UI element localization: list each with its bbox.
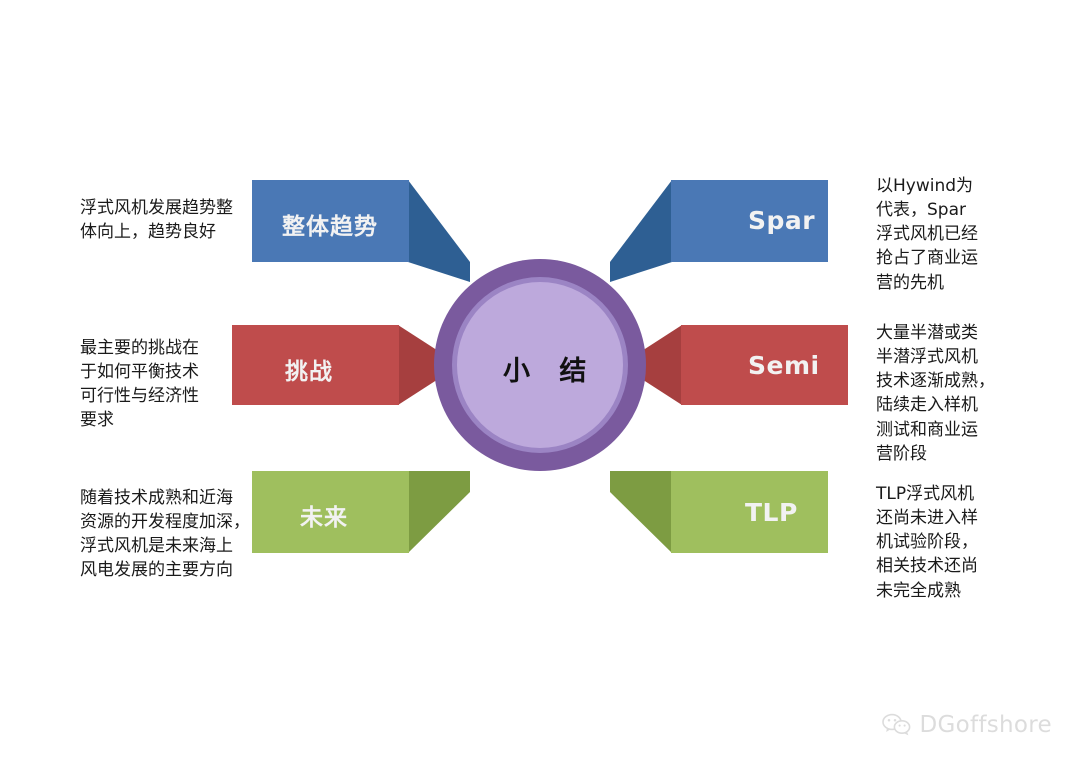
- branch-wedge-future: [408, 471, 470, 553]
- branch-description-spar: 以Hywind为 代表，Spar 浮式风机已经 抢占了商业运 营的先机: [876, 174, 1004, 295]
- branch-block-future: [252, 471, 409, 553]
- branch-wedge-spar: [610, 180, 672, 282]
- branch-description-overall-trend: 浮式风机发展趋势整 体向上，趋势良好: [80, 196, 260, 244]
- branch-description-semi: 大量半潜或类 半潜浮式风机 技术逐渐成熟， 陆续走入样机 测试和商业运 营阶段: [876, 321, 1006, 466]
- diagram-canvas: 整体趋势 Spar 挑战 Semi 未来 TLP 小 结 浮式风机发展趋势整 体…: [0, 0, 1080, 764]
- watermark-text: DGoffshore: [919, 712, 1052, 738]
- branch-shape-challenge[interactable]: [232, 325, 460, 405]
- branch-wedge-overall-trend: [408, 180, 470, 282]
- center-label: 小 结: [503, 349, 596, 388]
- branch-shape-semi[interactable]: [620, 325, 848, 405]
- branch-description-future: 随着技术成熟和近海 资源的开发程度加深， 浮式风机是未来海上 风电发展的主要方向: [80, 486, 275, 583]
- watermark: DGoffshore: [882, 712, 1052, 738]
- branch-block-tlp: [671, 471, 828, 553]
- branch-description-tlp: TLP浮式风机 还尚未进入样 机试验阶段， 相关技术还尚 未完全成熟: [876, 482, 1004, 603]
- branch-shape-spar[interactable]: [610, 180, 828, 282]
- branch-wedge-tlp: [610, 471, 672, 553]
- branch-shape-future[interactable]: [252, 471, 470, 553]
- branch-shape-overall-trend[interactable]: [252, 180, 470, 282]
- branch-description-challenge: 最主要的挑战在 于如何平衡技术 可行性与经济性 要求: [80, 336, 250, 433]
- wechat-icon: [882, 713, 912, 737]
- branch-shape-tlp[interactable]: [610, 471, 828, 553]
- branch-block-overall-trend: [252, 180, 409, 262]
- branch-block-spar: [671, 180, 828, 262]
- branch-block-semi: [681, 325, 848, 405]
- branch-block-challenge: [232, 325, 399, 405]
